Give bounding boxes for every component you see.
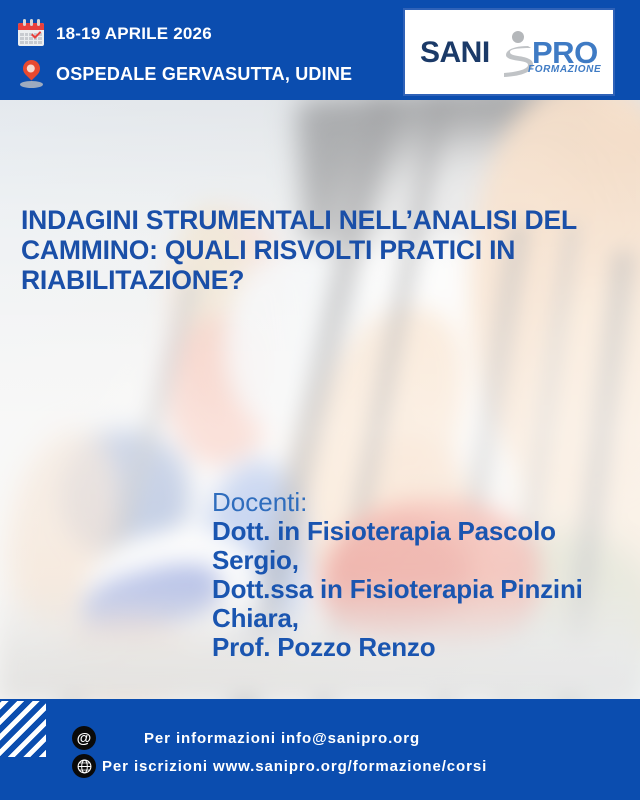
- event-location-row: OSPEDALE GERVASUTTA, UDINE: [14, 57, 352, 91]
- footer-contacts: @ Per informazioni info@sanipro.org Per …: [0, 699, 640, 800]
- calendar-icon: [14, 17, 48, 51]
- event-title: INDAGINI STRUMENTALI NELL’ANALISI DEL CA…: [21, 205, 621, 295]
- speakers-names: Dott. in Fisioterapia Pascolo Sergio, Do…: [212, 517, 640, 662]
- speakers-label: Docenti:: [212, 488, 640, 517]
- at-sign-icon: @: [72, 726, 96, 750]
- map-pin-icon: [14, 57, 48, 91]
- event-date-row: 18-19 APRILE 2026: [14, 17, 212, 51]
- footer-web-text: Per iscrizioni www.sanipro.org/formazion…: [102, 758, 487, 775]
- globe-icon: [72, 754, 96, 778]
- sanipro-logo: SANI PRO FORMAZIONE: [403, 8, 615, 96]
- footer-email-row: @ Per informazioni info@sanipro.org: [72, 726, 420, 750]
- event-poster: 18-19 APRILE 2026 OSPEDALE GERVASUTTA, U…: [0, 0, 640, 800]
- logo-tagline: FORMAZIONE: [528, 64, 601, 75]
- event-location-text: OSPEDALE GERVASUTTA, UDINE: [56, 64, 352, 85]
- footer-email-text: Per informazioni info@sanipro.org: [144, 730, 420, 747]
- footer-web-row: Per iscrizioni www.sanipro.org/formazion…: [72, 754, 487, 778]
- logo-text-sani: SANI: [420, 36, 490, 70]
- speakers-block: Docenti: Dott. in Fisioterapia Pascolo S…: [212, 488, 640, 662]
- event-date-text: 18-19 APRILE 2026: [56, 24, 212, 44]
